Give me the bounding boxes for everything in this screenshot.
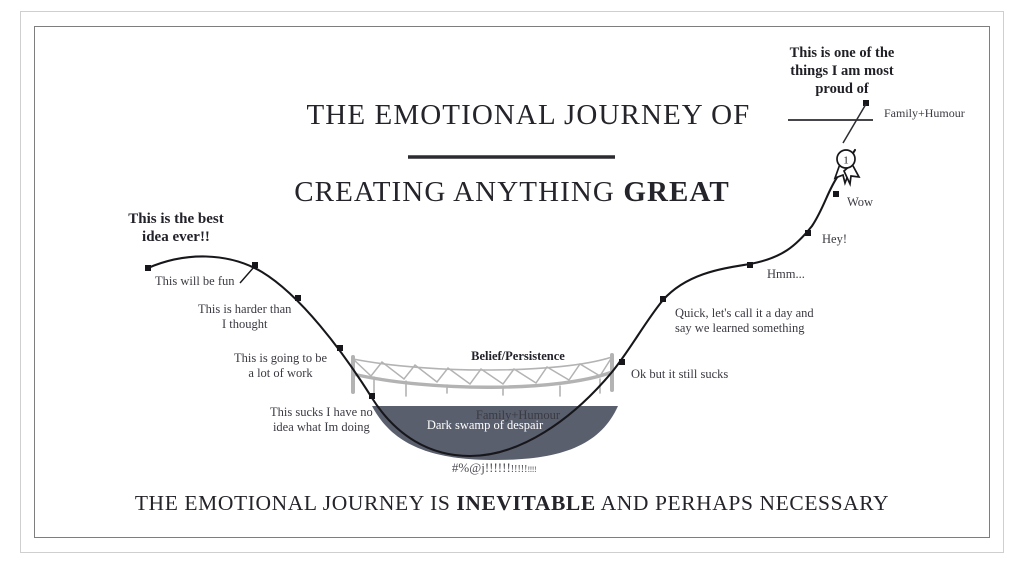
title-line-1: THE EMOTIONAL JOURNEY OF <box>306 99 750 131</box>
label-this-sucks: This sucks I have no idea what Im doing <box>270 405 373 436</box>
curse-grawlix: #%@j!!!!!!!!!!!!!!! <box>404 460 584 476</box>
label-this-will-be-fun: This will be fun <box>155 274 235 289</box>
label-hmm: Hmm... <box>767 267 805 282</box>
title-line-2-plain: CREATING ANYTHING <box>294 176 623 208</box>
title-line-2-bold: GREAT <box>623 176 729 208</box>
label-wow: Wow <box>847 195 873 210</box>
point-this-is-harder <box>295 295 301 301</box>
curse-bangs-small: !!!!! <box>511 464 528 475</box>
label-hey: Hey! <box>822 232 847 247</box>
point-ok-still-sucks <box>619 359 625 365</box>
curse-bangs-tiny: !!!! <box>527 465 536 474</box>
curse-bangs-large: !!!!!! <box>485 460 511 475</box>
callout-most-proud: This is one of the things I am most prou… <box>776 44 908 98</box>
footer-text-bold: INEVITABLE <box>456 491 595 515</box>
label-call-it-a-day: Quick, let's call it a day and say we le… <box>675 306 814 337</box>
curse-symbols: #%@j <box>452 460 485 475</box>
callout-best-idea: This is the best idea ever!! <box>96 210 256 247</box>
footer-text-1: THE EMOTIONAL JOURNEY IS <box>135 491 457 515</box>
swamp-label: Dark swamp of despair <box>390 418 580 433</box>
poster-canvas: 1 THE EMOTIONAL JOURNEY OF CREATING ANYT… <box>0 0 1024 564</box>
point-this-sucks <box>369 393 375 399</box>
point-lot-of-work <box>337 345 343 351</box>
point-call-it-a-day <box>660 296 666 302</box>
bridge-label-belief: Belief/Persistence <box>424 349 612 364</box>
label-family-humour-top: Family+Humour <box>884 106 965 121</box>
footer-text-2: AND PERHAPS NECESSARY <box>596 491 889 515</box>
label-this-is-harder: This is harder than I thought <box>198 302 291 333</box>
label-ok-still-sucks: Ok but it still sucks <box>631 367 728 382</box>
bridge-label-group: Belief/Persistence Family+Humour <box>424 310 612 463</box>
footer-tagline: THE EMOTIONAL JOURNEY IS INEVITABLE AND … <box>0 490 1024 516</box>
label-lot-of-work: This is going to be a lot of work <box>234 351 327 382</box>
